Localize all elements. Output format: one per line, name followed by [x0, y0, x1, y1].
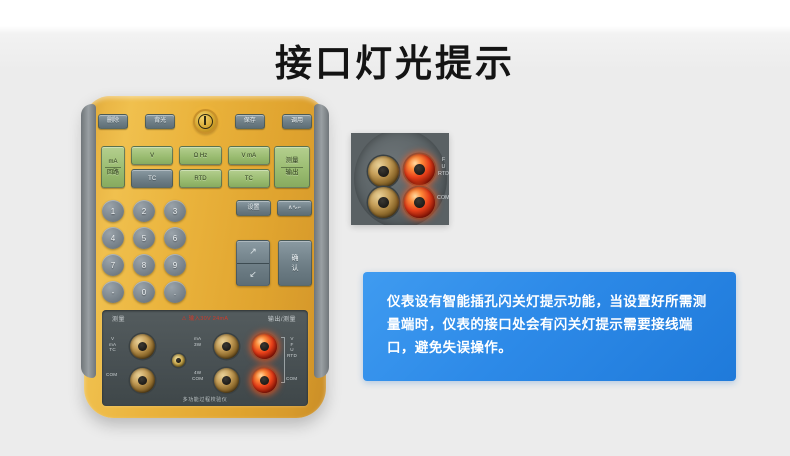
- key-4[interactable]: 4: [102, 227, 124, 249]
- key-2[interactable]: 2: [133, 200, 155, 222]
- backlight-button[interactable]: 背光: [145, 114, 175, 129]
- loop-key-divider: [105, 167, 120, 168]
- loop-key-bottom-label: 回路: [107, 170, 119, 176]
- terminal-label-v-ma-tc: V mA TC: [109, 336, 116, 353]
- terminal-label-com-right: COM: [286, 376, 297, 382]
- mode-key-v[interactable]: V: [131, 146, 173, 165]
- mode-key-grid: V Ω Hz V mA TC RTD TC: [131, 146, 270, 188]
- closeup-label-f-u-rtd: F U RTD: [438, 157, 449, 178]
- mode-key-tc-1[interactable]: TC: [131, 169, 173, 188]
- confirm-label-bottom: 认: [292, 265, 299, 272]
- loop-mode-key[interactable]: mA 回路: [101, 146, 125, 188]
- arrow-up-icon[interactable]: ↗: [237, 241, 269, 263]
- output-label: 输出: [286, 170, 299, 177]
- terminal-bracket: [281, 337, 285, 383]
- arrow-down-icon[interactable]: ↙: [237, 264, 269, 286]
- closeup-jack-unlit-bottom: [368, 187, 399, 218]
- terminal-jack-measure-hi[interactable]: [130, 334, 155, 359]
- closeup-circle: [354, 133, 447, 225]
- numeric-keypad: 1 2 3 4 5 6 7 8 9 - 0 .: [102, 200, 186, 303]
- feature-callout-box: 仪表设有智能插孔闪关灯提示功能，当设置好所需测量端时，仪表的接口处会有闪关灯提示…: [363, 272, 736, 381]
- key-0[interactable]: 0: [133, 281, 155, 303]
- confirm-button[interactable]: 确 认: [278, 240, 312, 286]
- terminal-closeup-photo: F U RTD COM: [351, 133, 449, 225]
- closeup-jack-lit-top: [404, 154, 435, 185]
- closeup-label-com: COM: [437, 195, 449, 202]
- terminal-jack-output-v-lit[interactable]: [252, 334, 277, 359]
- terminal-label-v-f-u-rtd: V F U RTD: [287, 336, 297, 359]
- measure-output-divider: [281, 167, 302, 168]
- device-mode-key-block: mA 回路 V Ω Hz V mA TC RTD TC 测量 输出: [98, 146, 312, 192]
- terminal-jack-output-com-lit[interactable]: [252, 368, 277, 393]
- mode-key-tc-2[interactable]: TC: [228, 169, 270, 188]
- power-button[interactable]: [193, 109, 218, 134]
- measure-label: 测量: [286, 158, 299, 165]
- device-model-label: 多功能过程校验仪: [102, 396, 308, 403]
- device-top-button-row: 删除 背光 保存 调用: [98, 110, 312, 132]
- loop-key-top-label: mA: [109, 159, 118, 165]
- waveform-button[interactable]: ∧∿⌐: [277, 200, 312, 216]
- key-1[interactable]: 1: [102, 200, 124, 222]
- terminal-label-com-left: COM: [106, 372, 117, 378]
- terminal-jack-output-ma[interactable]: [214, 334, 239, 359]
- feature-callout-text: 仪表设有智能插孔闪关灯提示功能，当设置好所需测量端时，仪表的接口处会有闪关灯提示…: [387, 290, 714, 360]
- recall-button[interactable]: 调用: [282, 114, 312, 129]
- terminal-jack-output-com[interactable]: [214, 368, 239, 393]
- mode-key-ohm-hz[interactable]: Ω Hz: [179, 146, 221, 165]
- key-6[interactable]: 6: [164, 227, 186, 249]
- terminal-jack-measure-com[interactable]: [130, 368, 155, 393]
- delete-button[interactable]: 删除: [98, 114, 128, 129]
- terminal-panel-right-title: 输出/测量: [268, 314, 296, 323]
- confirm-label-top: 确: [292, 255, 299, 262]
- calibrator-device-image: 删除 背光 保存 调用 mA 回路 V Ω Hz V mA TC RTD TC …: [84, 96, 326, 418]
- terminal-panel: 测量 ⚠ 输入30V 24mA 输出/测量 V mA TC COM mA 3W …: [102, 310, 308, 406]
- mode-key-v-ma[interactable]: V mA: [228, 146, 270, 165]
- key-decimal[interactable]: .: [164, 281, 186, 303]
- terminal-label-4w-com: 4W COM: [192, 370, 203, 381]
- key-3[interactable]: 3: [164, 200, 186, 222]
- measure-output-key[interactable]: 测量 输出: [274, 146, 310, 188]
- closeup-jack-unlit-top: [368, 156, 399, 187]
- mode-key-rtd[interactable]: RTD: [179, 169, 221, 188]
- key-minus[interactable]: -: [102, 281, 124, 303]
- device-rail-right: [314, 104, 329, 378]
- key-8[interactable]: 8: [133, 254, 155, 276]
- settings-button[interactable]: 设置: [236, 200, 271, 216]
- terminal-label-ma-3w: mA 3W: [194, 336, 201, 347]
- terminal-jack-center[interactable]: [172, 354, 185, 367]
- device-side-keys: 设置 ∧∿⌐ ↗ ↙ 确 认: [236, 200, 312, 216]
- key-7[interactable]: 7: [102, 254, 124, 276]
- key-9[interactable]: 9: [164, 254, 186, 276]
- arrow-pad[interactable]: ↗ ↙: [236, 240, 270, 286]
- closeup-jack-lit-bottom: [404, 187, 435, 218]
- page-title: 接口灯光提示: [0, 43, 790, 86]
- save-button[interactable]: 保存: [235, 114, 265, 129]
- key-5[interactable]: 5: [133, 227, 155, 249]
